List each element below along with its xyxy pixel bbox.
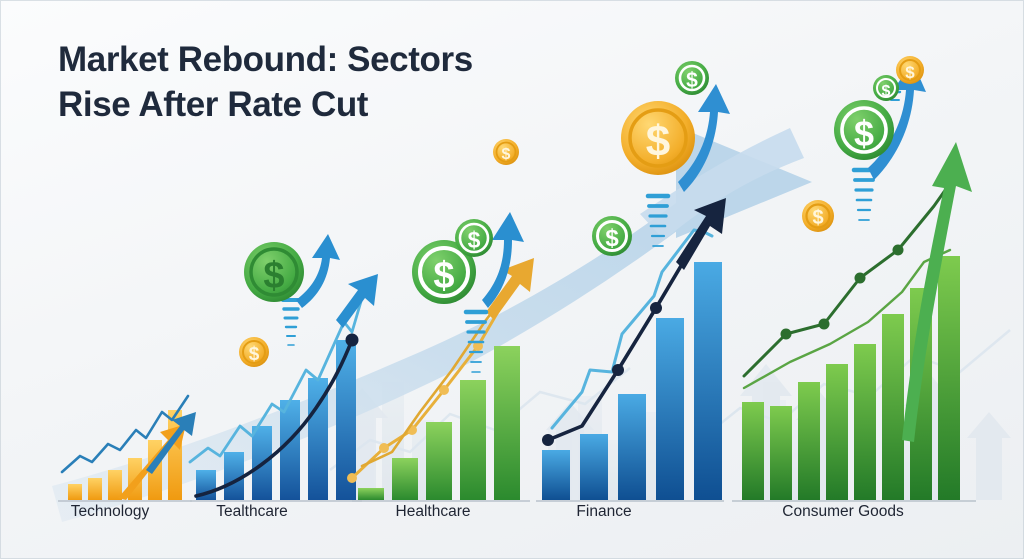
title-line-2: Rise After Rate Cut <box>58 83 598 128</box>
svg-text:$: $ <box>433 255 454 297</box>
svg-text:$: $ <box>646 117 670 166</box>
svg-text:$: $ <box>882 83 891 100</box>
dollar-coin-gold-large-finance: $ <box>621 101 695 175</box>
dollar-coin-green-tiny-healthcare: $ <box>493 139 519 165</box>
svg-text:$: $ <box>686 69 698 92</box>
page-title: Market Rebound: Sectors Rise After Rate … <box>58 38 598 128</box>
dollar-coin-green-tiny-consumer: $ <box>873 75 899 101</box>
svg-text:$: $ <box>263 255 284 297</box>
svg-text:$: $ <box>854 113 874 154</box>
dollar-coin-gold-tealthcare: $ <box>239 337 269 367</box>
dollar-coin-green-small-healthcare: $ <box>455 219 493 257</box>
coin-trail-2 <box>466 312 486 372</box>
svg-text:$: $ <box>905 63 915 82</box>
category-label-consumer-goods: Consumer Goods <box>782 503 903 521</box>
svg-text:$: $ <box>502 146 511 163</box>
title-line-1: Market Rebound: Sectors <box>58 38 598 83</box>
coin-trail-3 <box>648 196 668 246</box>
category-label-technology: Technology <box>71 503 149 521</box>
dollar-coin-green-mid-healthcare: $ <box>592 216 632 256</box>
dollar-coin-green-finance: $ <box>675 61 709 95</box>
dollar-coin-green-large-consumer: $ <box>834 100 894 160</box>
category-label-finance: Finance <box>576 503 631 521</box>
svg-text:$: $ <box>812 207 823 229</box>
infographic-canvas: $ $ $ $ $ $ <box>0 0 1024 559</box>
category-label-healthcare: Healthcare <box>396 503 471 521</box>
coin-trail-1 <box>283 300 299 345</box>
dollar-coin-gold-consumer: $ <box>802 200 834 232</box>
dollar-coin-green-tealthcare: $ <box>244 242 304 302</box>
dollar-coin-gold-tiny-consumer: $ <box>896 56 924 84</box>
svg-text:$: $ <box>249 344 260 365</box>
svg-text:$: $ <box>605 225 619 252</box>
svg-text:$: $ <box>468 227 481 253</box>
category-label-tealthcare: Tealthcare <box>216 503 288 521</box>
coin-trail-4 <box>854 170 874 220</box>
